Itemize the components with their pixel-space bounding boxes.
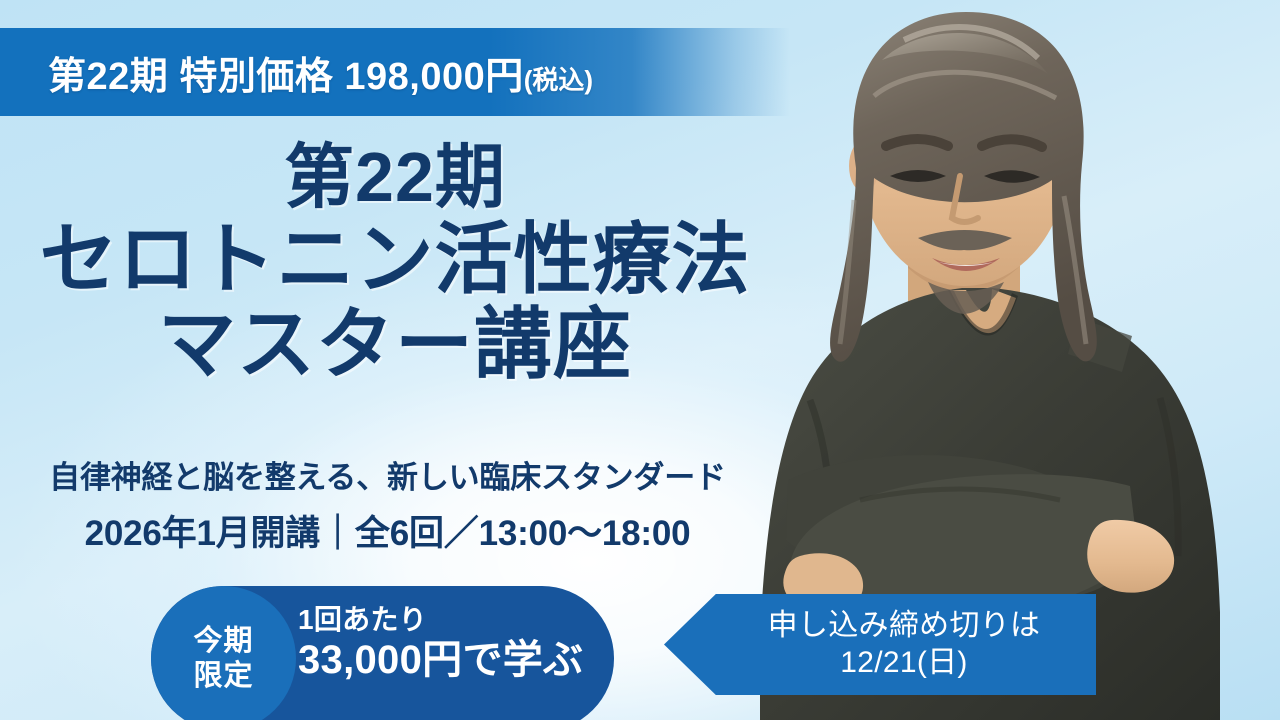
special-price-text: 第22期 特別価格 198,000円(税込) <box>48 45 593 100</box>
subtitle-tagline: 自律神経と脳を整える、新しい臨床スタンダード <box>0 452 775 497</box>
per-session-label: 1回あたり <box>298 604 583 635</box>
tax-included-note: (税込) <box>524 65 593 95</box>
deadline-date: 12/21(日) <box>840 645 967 681</box>
headline-line-term: 第22期 <box>0 140 790 214</box>
subtitle-schedule: 2026年1月開講｜全6回／13:00〜18:00 <box>0 505 775 556</box>
limited-offer-circle-badge: 今期 限定 <box>151 586 296 720</box>
course-headline: 第22期 セロトニン活性療法 マスター講座 <box>0 140 790 386</box>
per-session-price-block: 1回あたり 33,000円で学ぶ <box>298 604 583 683</box>
special-price-label: 第22期 特別価格 198,000円 <box>48 56 524 98</box>
application-deadline-banner: 申し込み締め切りは 12/21(日) <box>664 594 1096 695</box>
limited-offer-circle-line2: 限定 <box>193 659 253 693</box>
limited-offer-circle-line1: 今期 <box>193 624 253 658</box>
promo-poster: 第22期 特別価格 198,000円(税込) 第22期 セロトニン活性療法 マス… <box>0 0 1280 720</box>
headline-line-master-course: マスター講座 <box>0 303 790 386</box>
course-subtitle: 自律神経と脳を整える、新しい臨床スタンダード 2026年1月開講｜全6回／13:… <box>0 452 775 556</box>
per-session-price: 33,000円で学ぶ <box>298 637 583 683</box>
headline-line-therapy: セロトニン活性療法 <box>0 218 790 301</box>
limited-offer-pill: 今期 限定 1回あたり 33,000円で学ぶ <box>151 586 614 720</box>
special-price-bar: 第22期 特別価格 198,000円(税込) <box>0 28 790 116</box>
deadline-label: 申し込み締め切りは <box>768 608 1041 644</box>
